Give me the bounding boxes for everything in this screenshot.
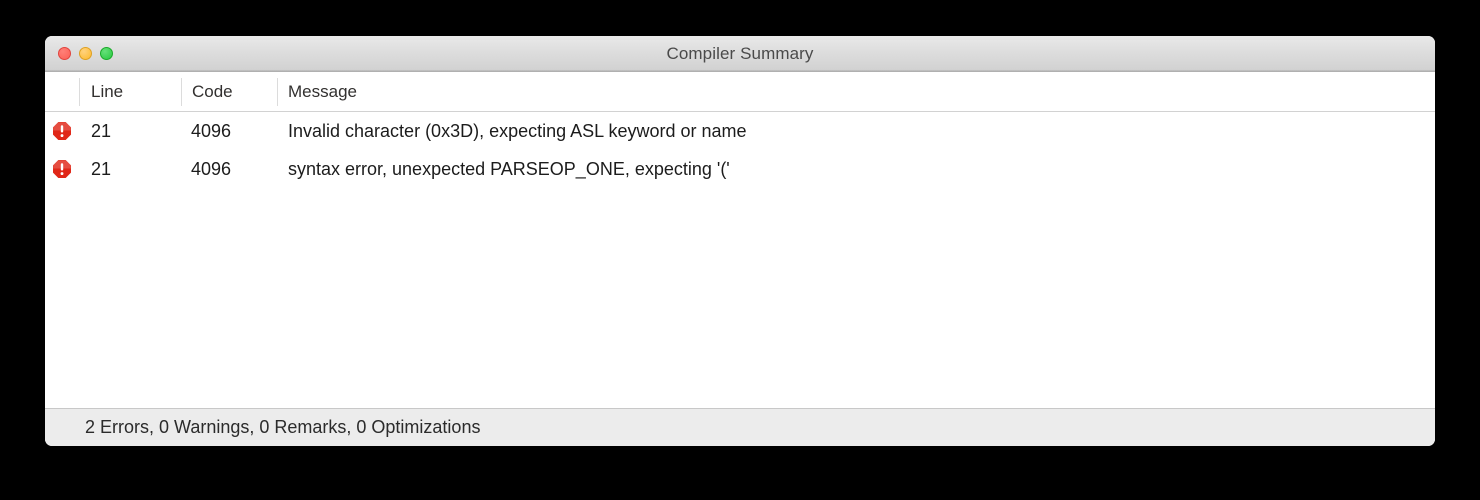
row-line-value: 21 (91, 112, 111, 150)
column-header-message[interactable]: Message (288, 72, 357, 111)
row-code-value: 4096 (191, 150, 231, 188)
diagnostics-list[interactable]: 21 4096 Invalid character (0x3D), expect… (45, 112, 1435, 408)
column-header-code[interactable]: Code (192, 72, 233, 111)
column-header-line[interactable]: Line (91, 72, 123, 111)
status-summary: 2 Errors, 0 Warnings, 0 Remarks, 0 Optim… (85, 409, 480, 446)
error-octagon-icon (52, 159, 72, 179)
window-title: Compiler Summary (45, 36, 1435, 71)
window-titlebar[interactable]: Compiler Summary (45, 36, 1435, 72)
row-line-value: 21 (91, 150, 111, 188)
column-divider-line[interactable] (79, 78, 80, 106)
column-divider-message[interactable] (277, 78, 278, 106)
error-octagon-icon (52, 121, 72, 141)
compiler-summary-window: Compiler Summary Line Code Message 21 (45, 36, 1435, 446)
row-message-value: Invalid character (0x3D), expecting ASL … (288, 112, 747, 150)
screen: Compiler Summary Line Code Message 21 (0, 0, 1480, 500)
column-divider-code[interactable] (181, 78, 182, 106)
status-bar: 2 Errors, 0 Warnings, 0 Remarks, 0 Optim… (45, 408, 1435, 446)
table-row[interactable]: 21 4096 syntax error, unexpected PARSEOP… (45, 150, 1435, 188)
row-code-value: 4096 (191, 112, 231, 150)
table-header: Line Code Message (45, 72, 1435, 112)
row-message-value: syntax error, unexpected PARSEOP_ONE, ex… (288, 150, 730, 188)
table-row[interactable]: 21 4096 Invalid character (0x3D), expect… (45, 112, 1435, 150)
